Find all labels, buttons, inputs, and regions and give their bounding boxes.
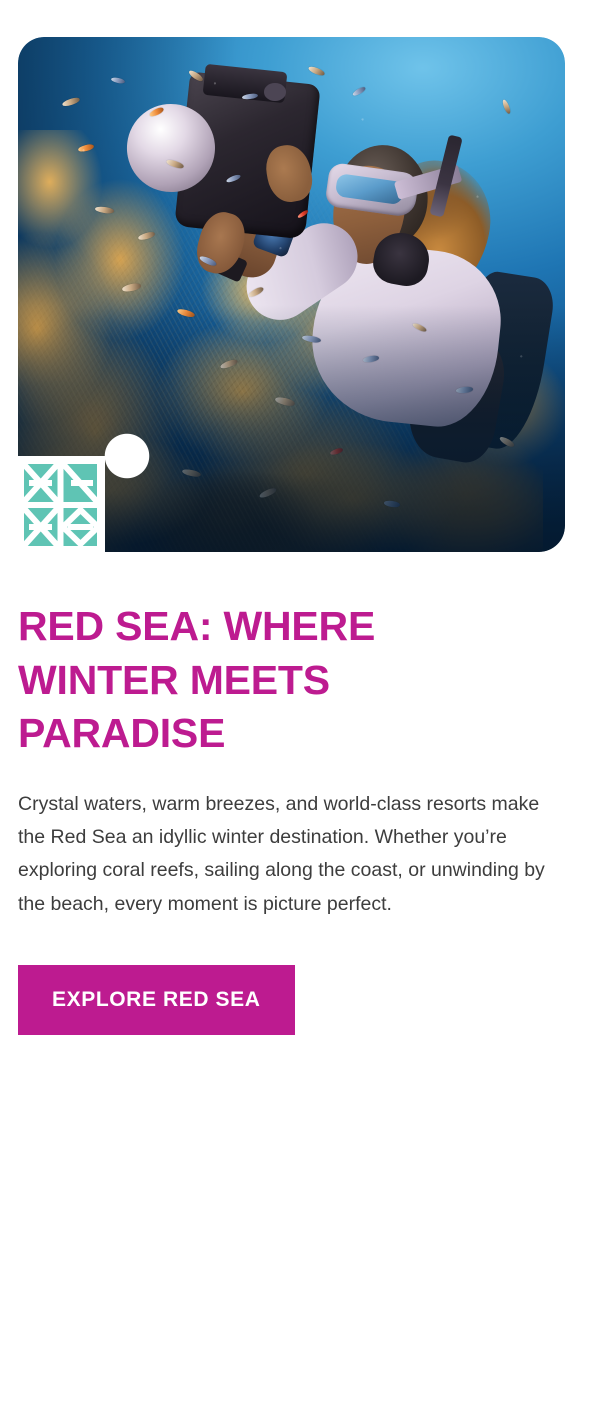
- brand-logo[interactable]: [18, 458, 103, 552]
- card-description: Crystal waters, warm breezes, and world-…: [18, 761, 563, 921]
- card-content: Red Sea: Where Winter Meets Paradise Cry…: [18, 600, 578, 1035]
- explore-red-sea-button[interactable]: Explore Red Sea: [18, 965, 295, 1035]
- promo-card-page: Red Sea: Where Winter Meets Paradise Cry…: [0, 0, 600, 1425]
- hero-media: [18, 37, 565, 552]
- page-title: Red Sea: Where Winter Meets Paradise: [18, 600, 488, 761]
